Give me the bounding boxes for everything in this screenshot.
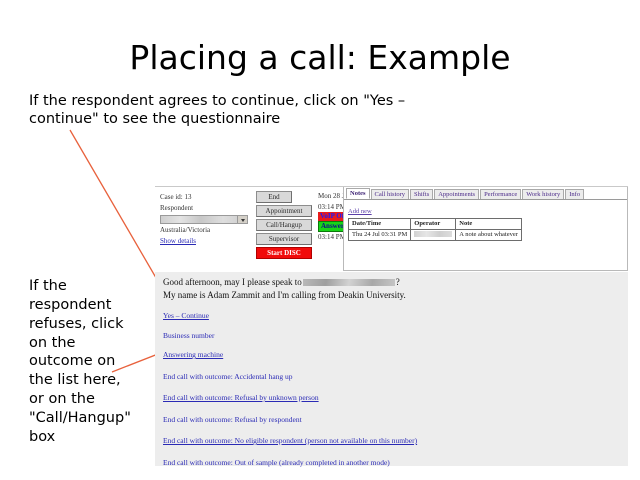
tab-performance[interactable]: Performance xyxy=(480,189,521,199)
start-disc-button[interactable]: Start DISC xyxy=(256,247,312,259)
appointment-button[interactable]: Appointment xyxy=(256,205,312,217)
table-header-row: Date/Time Operator Note xyxy=(349,219,522,230)
respondent-label: Respondent xyxy=(160,203,255,214)
column-header-note: Note xyxy=(456,219,522,230)
outcome-out-of-sample[interactable]: End call with outcome: Out of sample (al… xyxy=(163,458,628,469)
tab-info[interactable]: Info xyxy=(565,189,584,199)
script-line-1: Good afternoon, may I please speak to? xyxy=(163,272,628,289)
case-info-block: Case id: 13 Respondent Australia/Victori… xyxy=(160,192,255,246)
redacted-respondent-name xyxy=(303,279,395,286)
script-line-1-after: ? xyxy=(396,277,400,287)
case-id-label: Case id: 13 xyxy=(160,192,255,203)
outcome-accidental-hang-up[interactable]: End call with outcome: Accidental hang u… xyxy=(163,372,628,383)
column-header-datetime: Date/Time xyxy=(349,219,411,230)
supervisor-button[interactable]: Supervisor xyxy=(256,233,312,245)
cell-note: A note about whatever xyxy=(456,229,522,240)
arrow-line-top xyxy=(70,130,166,295)
show-details-link[interactable]: Show details xyxy=(160,236,255,247)
tab-work-history[interactable]: Work history xyxy=(522,189,564,199)
script-line-1-before: Good afternoon, may I please speak to xyxy=(163,277,302,287)
annotation-top-text: If the respondent agrees to continue, cl… xyxy=(29,92,459,128)
chevron-down-icon xyxy=(241,219,245,222)
end-button[interactable]: End xyxy=(256,191,292,203)
outcome-no-eligible-respondent[interactable]: End call with outcome: No eligible respo… xyxy=(163,436,628,447)
notes-panel: Notes Call history Shifts Appointments P… xyxy=(343,187,628,271)
notes-tabstrip: Notes Call history Shifts Appointments P… xyxy=(344,187,627,200)
outcome-refusal-respondent[interactable]: End call with outcome: Refusal by respon… xyxy=(163,415,628,426)
option-yes-continue[interactable]: Yes – Continue xyxy=(163,311,628,322)
cell-datetime: Thu 24 Jul 03:31 PM xyxy=(349,229,411,240)
table-row[interactable]: Thu 24 Jul 03:31 PM A note about whateve… xyxy=(349,229,522,240)
option-business-number[interactable]: Business number xyxy=(163,331,628,342)
outcome-refusal-unknown-person[interactable]: End call with outcome: Refusal by unknow… xyxy=(163,393,628,404)
script-and-outcomes-panel: Good afternoon, may I please speak to? M… xyxy=(155,272,628,466)
page-title: Placing a call: Example xyxy=(0,38,640,77)
timezone-label: Australia/Victoria xyxy=(160,225,255,236)
call-action-buttons: End Appointment Call/Hangup Supervisor S… xyxy=(256,191,312,261)
call-control-panel: Case id: 13 Respondent Australia/Victori… xyxy=(155,186,628,271)
primary-outcome-links: Yes – Continue Business number Answering… xyxy=(155,311,628,361)
respondent-select[interactable] xyxy=(160,215,248,224)
tab-notes[interactable]: Notes xyxy=(346,188,370,199)
tab-call-history[interactable]: Call history xyxy=(371,189,410,199)
script-line-2: My name is Adam Zammit and I'm calling f… xyxy=(163,289,628,302)
application-screenshot: Case id: 13 Respondent Australia/Victori… xyxy=(155,186,628,466)
annotation-left-text: If the respondent refuses, click on the … xyxy=(29,277,133,447)
redacted-operator-value xyxy=(414,231,452,237)
option-answering-machine[interactable]: Answering machine xyxy=(163,350,628,361)
tab-shifts[interactable]: Shifts xyxy=(410,189,433,199)
call-hangup-button[interactable]: Call/Hangup xyxy=(256,219,312,231)
notes-table: Date/Time Operator Note Thu 24 Jul 03:31… xyxy=(348,218,522,241)
end-call-outcome-links: End call with outcome: Accidental hang u… xyxy=(155,372,628,469)
add-new-note-link[interactable]: Add new xyxy=(348,208,372,215)
column-header-operator: Operator xyxy=(411,219,456,230)
tab-appointments[interactable]: Appointments xyxy=(434,189,479,199)
cell-operator xyxy=(411,229,456,240)
